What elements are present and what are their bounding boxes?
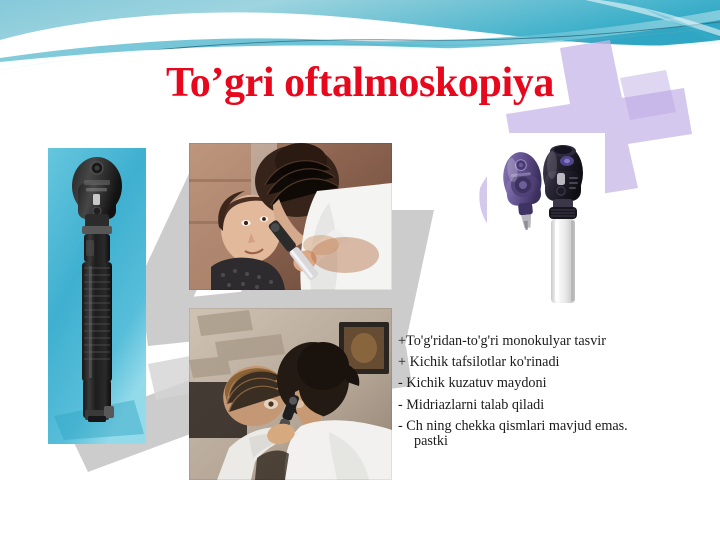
ophthalmoscope-black-photo: [48, 148, 146, 444]
bullet-text: To'g'ridan-to'g'ri monokulyar tasvir: [406, 333, 606, 349]
bullet-marker: +: [398, 354, 406, 370]
ophthalmoscope-heads-photo: [487, 133, 605, 303]
eye-examination-photo-bottom: [189, 308, 392, 480]
presentation-slide: To’gri oftalmoskopiya: [0, 0, 720, 540]
bullet-text: Midriazlarni talab qiladi: [403, 397, 544, 413]
bullet-text: Kichik kuzatuv maydoni: [403, 375, 547, 391]
list-item: - Kichik kuzatuv maydoni: [398, 376, 690, 390]
eye-examination-photo-top: [189, 143, 392, 290]
list-item: - Midriazlarni talab qiladi: [398, 398, 690, 412]
bullet-text: Kichik tafsilotlar ko'rinadi: [406, 354, 559, 370]
list-item: + Kichik tafsilotlar ko'rinadi: [398, 355, 690, 369]
list-item: - Ch ning chekka qismlari mavjud emas.pa…: [398, 419, 690, 448]
bullet-continuation: pastki: [398, 434, 690, 448]
page-title: To’gri oftalmoskopiya: [0, 60, 720, 106]
bullet-marker: +: [398, 333, 406, 349]
bullet-text: Ch ning chekka qismlari mavjud emas.: [403, 418, 628, 434]
bullet-list: +To'g'ridan-to'g'ri monokulyar tasvir + …: [398, 334, 690, 455]
list-item: +To'g'ridan-to'g'ri monokulyar tasvir: [398, 334, 690, 348]
